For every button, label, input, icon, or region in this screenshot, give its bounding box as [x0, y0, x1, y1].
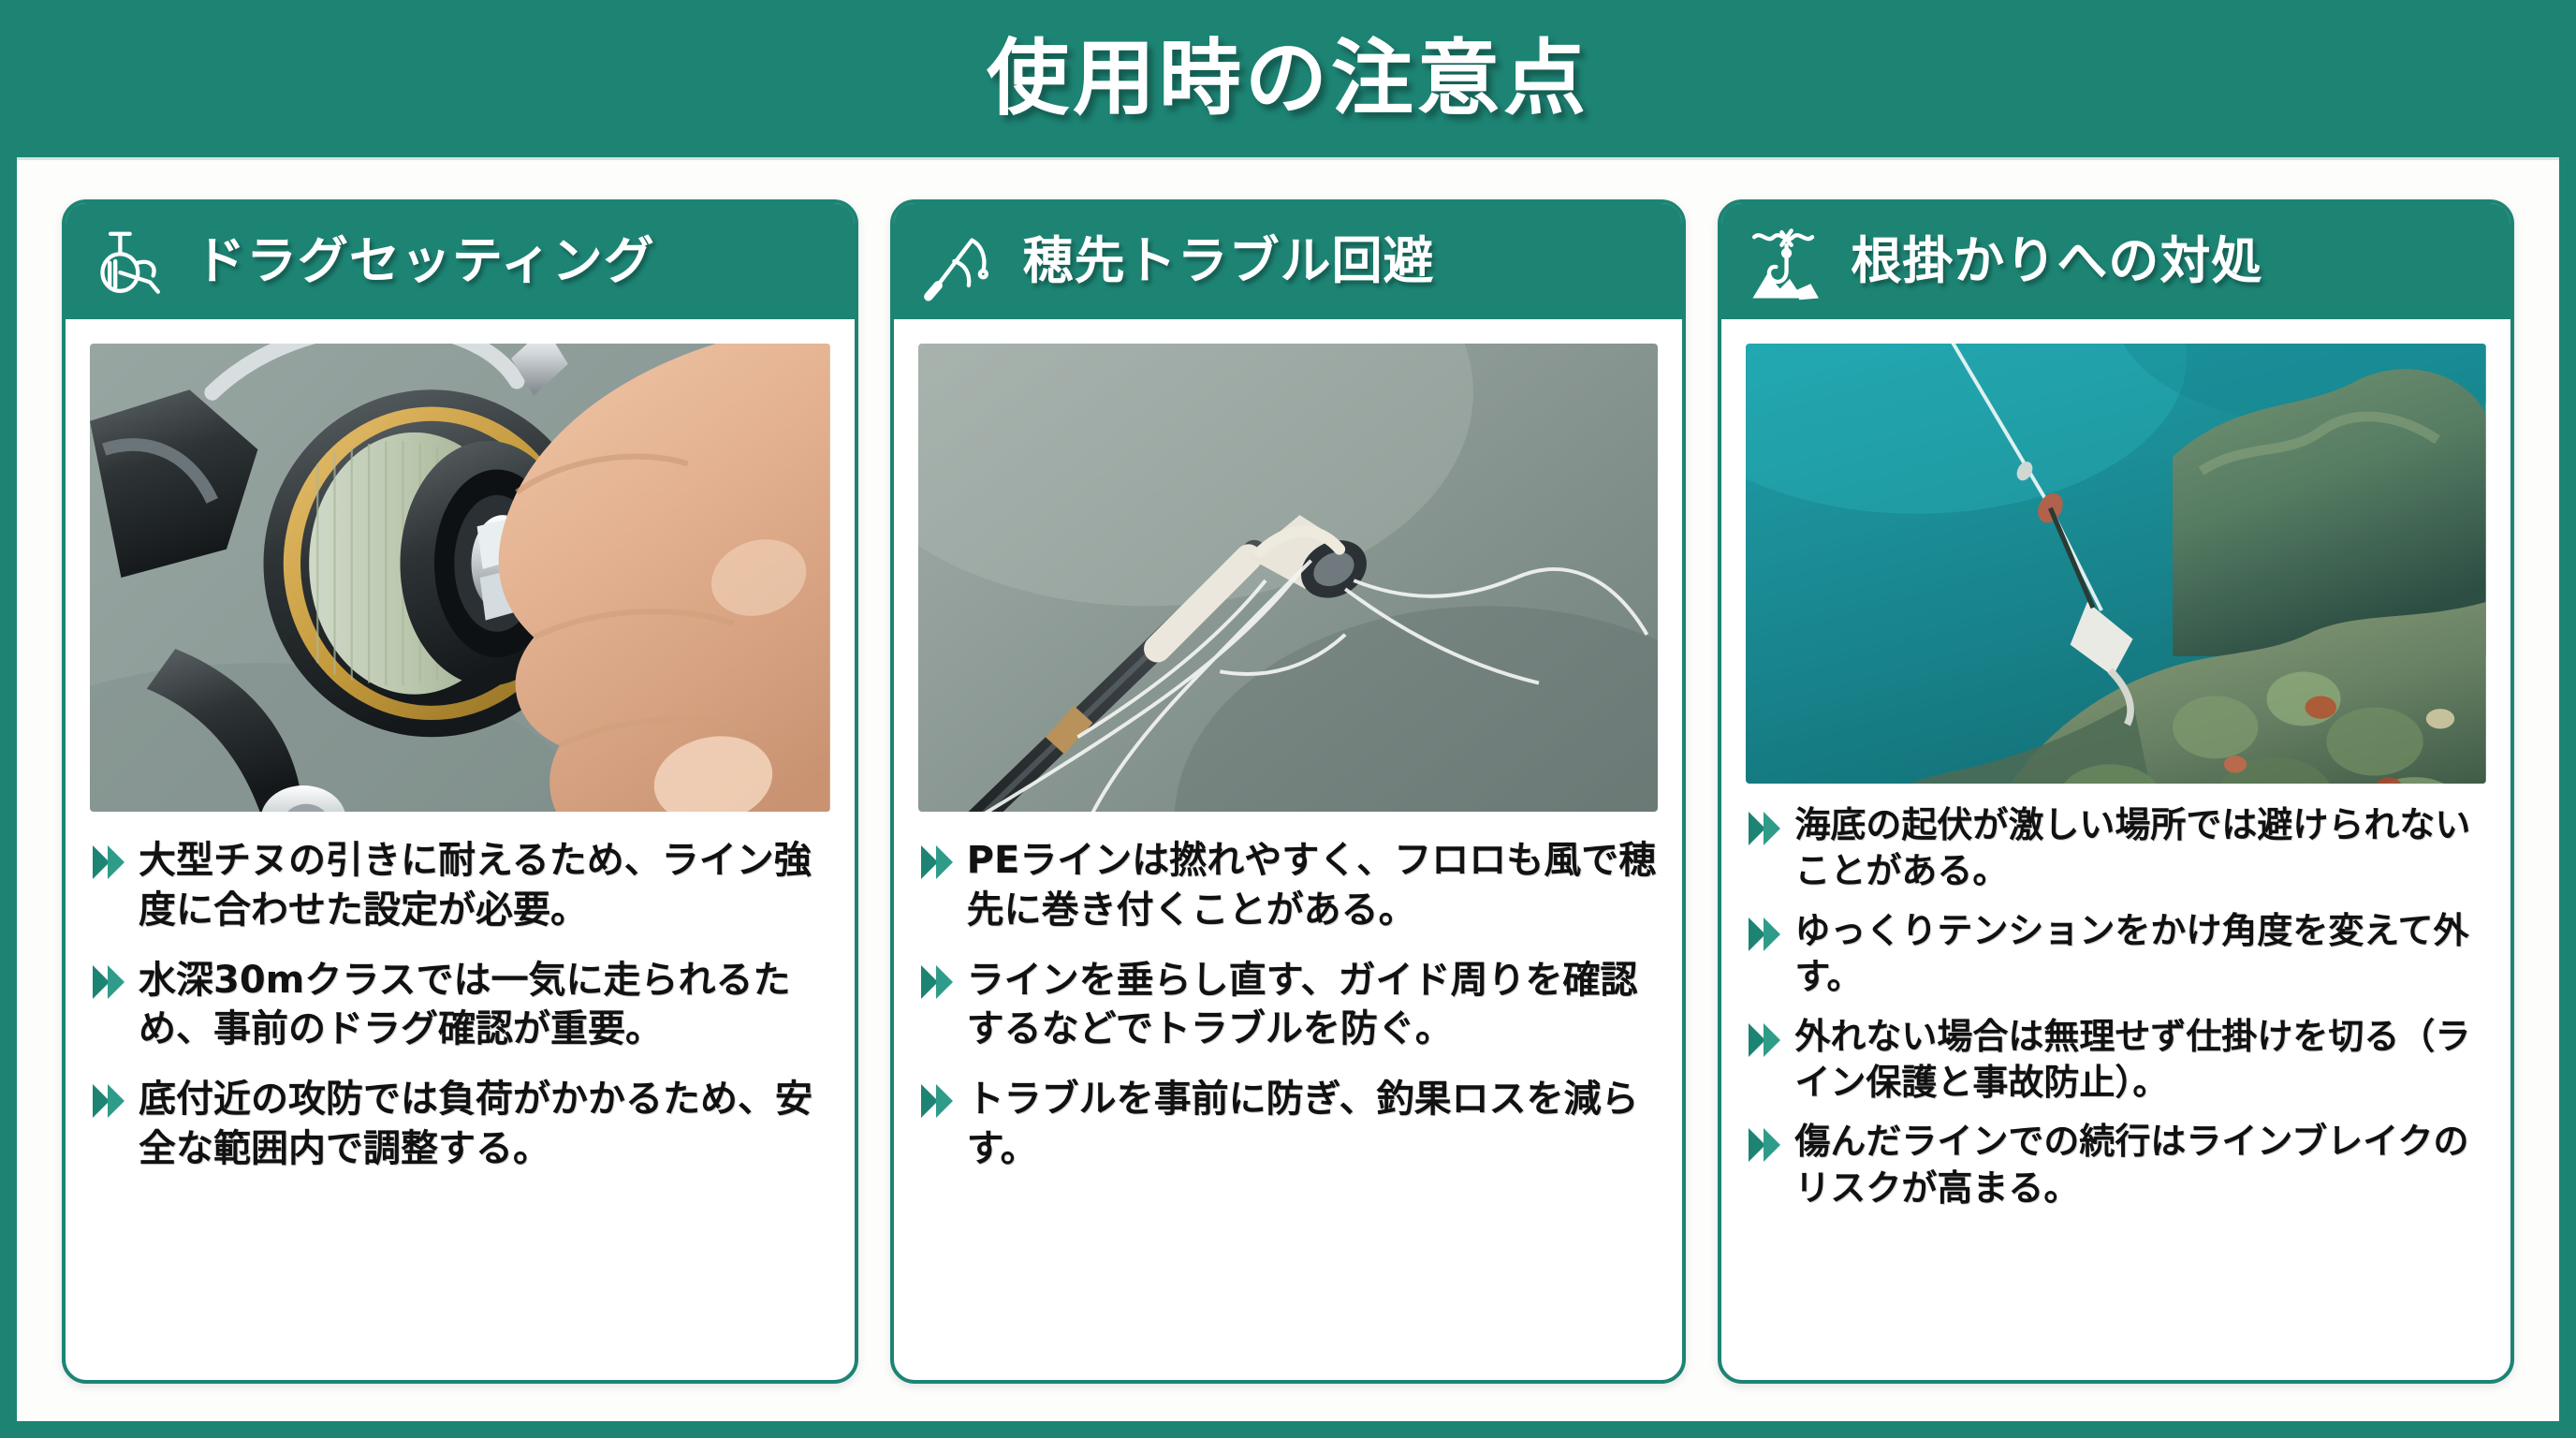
bullet-item: 傷んだラインでの続行はラインブレイクのリスクが高まる。	[1746, 1119, 2486, 1211]
double-chevron-icon	[90, 961, 127, 1003]
fishing-reel-icon	[94, 221, 174, 301]
page-header: 使用時の注意点	[0, 0, 2576, 157]
bullet-item: ゆっくりテンションをかけ角度を変えて外す。	[1746, 908, 2486, 1001]
double-chevron-icon	[918, 842, 956, 883]
bullet-item: 海底の起伏が激しい場所では避けられないことがある。	[1746, 802, 2486, 895]
cards-row: ドラグセッティング	[17, 160, 2559, 1421]
bullet-item: 水深30mクラスでは一気に走られるため、事前のドラグ確認が重要。	[90, 956, 830, 1055]
card-body-drag-setting: 大型チヌの引きに耐えるため、ライン強度に合わせた設定が必要。 水深30mクラスで…	[66, 319, 855, 1380]
underwater-rocky-bottom-snag-photo	[1746, 344, 2486, 784]
double-chevron-icon	[1746, 1124, 1783, 1166]
card-title-rod-tip-trouble: 穂先トラブル回避	[1023, 235, 1435, 288]
bullet-text: PEラインは撚れやすく、フロロも風で穂先に巻き付くことがある。	[967, 836, 1659, 935]
bullet-text: 底付近の攻防では負荷がかかるため、安全な範囲内で調整する。	[139, 1075, 830, 1174]
bullet-text: トラブルを事前に防ぎ、釣果ロスを減らす。	[967, 1075, 1659, 1174]
content-panel: ドラグセッティング	[17, 157, 2559, 1421]
card-header-drag-setting: ドラグセッティング	[66, 203, 855, 319]
double-chevron-icon	[1746, 808, 1783, 849]
bullet-text: 外れない場合は無理せず仕掛けを切る（ライン保護と事故防止）。	[1794, 1014, 2486, 1107]
bullet-text: 海底の起伏が激しい場所では避けられないことがある。	[1794, 802, 2486, 895]
bullet-text: ラインを垂らし直す、ガイド周りを確認するなどでトラブルを防ぐ。	[967, 956, 1659, 1055]
page-title: 使用時の注意点	[987, 37, 1589, 120]
bullet-item: ラインを垂らし直す、ガイド周りを確認するなどでトラブルを防ぐ。	[918, 956, 1659, 1055]
double-chevron-icon	[918, 1080, 956, 1122]
bullet-text: ゆっくりテンションをかけ角度を変えて外す。	[1794, 908, 2486, 1001]
card-title-drag-setting: ドラグセッティング	[195, 235, 655, 288]
bullet-item: PEラインは撚れやすく、フロロも風で穂先に巻き付くことがある。	[918, 836, 1659, 935]
double-chevron-icon	[90, 842, 127, 883]
double-chevron-icon	[1746, 914, 1783, 955]
bullet-item: 底付近の攻防では負荷がかかるため、安全な範囲内で調整する。	[90, 1075, 830, 1174]
card-body-snag-handling: 海底の起伏が激しい場所では避けられないことがある。 ゆっくりテンションをかけ角度…	[1721, 319, 2510, 1380]
rod-tip-line-tangle-photo	[918, 344, 1659, 812]
fishing-rod-icon	[922, 221, 1003, 301]
double-chevron-icon	[90, 1080, 127, 1122]
bullet-text: 大型チヌの引きに耐えるため、ライン強度に合わせた設定が必要。	[139, 836, 830, 935]
bullet-text: 水深30mクラスでは一気に走られるため、事前のドラグ確認が重要。	[139, 956, 830, 1055]
card-rod-tip-trouble: 穂先トラブル回避	[890, 199, 1687, 1384]
bullet-text: 傷んだラインでの続行はラインブレイクのリスクが高まる。	[1794, 1119, 2486, 1211]
card-drag-setting: ドラグセッティング	[62, 199, 858, 1384]
bullet-item: 外れない場合は無理せず仕掛けを切る（ライン保護と事故防止）。	[1746, 1014, 2486, 1107]
card-snag-handling: 根掛かりへの対処	[1718, 199, 2514, 1384]
hook-on-rock-icon	[1749, 221, 1830, 301]
card-body-rod-tip-trouble: PEラインは撚れやすく、フロロも風で穂先に巻き付くことがある。 ラインを垂らし直…	[894, 319, 1683, 1380]
spinning-reel-drag-knob-photo	[90, 344, 830, 812]
double-chevron-icon	[1746, 1020, 1783, 1061]
bullet-list-drag-setting: 大型チヌの引きに耐えるため、ライン強度に合わせた設定が必要。 水深30mクラスで…	[90, 836, 830, 1174]
card-title-snag-handling: 根掛かりへの対処	[1851, 235, 2262, 288]
bullet-item: トラブルを事前に防ぎ、釣果ロスを減らす。	[918, 1075, 1659, 1174]
card-header-snag-handling: 根掛かりへの対処	[1721, 203, 2510, 319]
bullet-list-rod-tip-trouble: PEラインは撚れやすく、フロロも風で穂先に巻き付くことがある。 ラインを垂らし直…	[918, 836, 1659, 1174]
bullet-list-snag-handling: 海底の起伏が激しい場所では避けられないことがある。 ゆっくりテンションをかけ角度…	[1746, 802, 2486, 1211]
bullet-item: 大型チヌの引きに耐えるため、ライン強度に合わせた設定が必要。	[90, 836, 830, 935]
double-chevron-icon	[918, 961, 956, 1003]
card-header-rod-tip-trouble: 穂先トラブル回避	[894, 203, 1683, 319]
